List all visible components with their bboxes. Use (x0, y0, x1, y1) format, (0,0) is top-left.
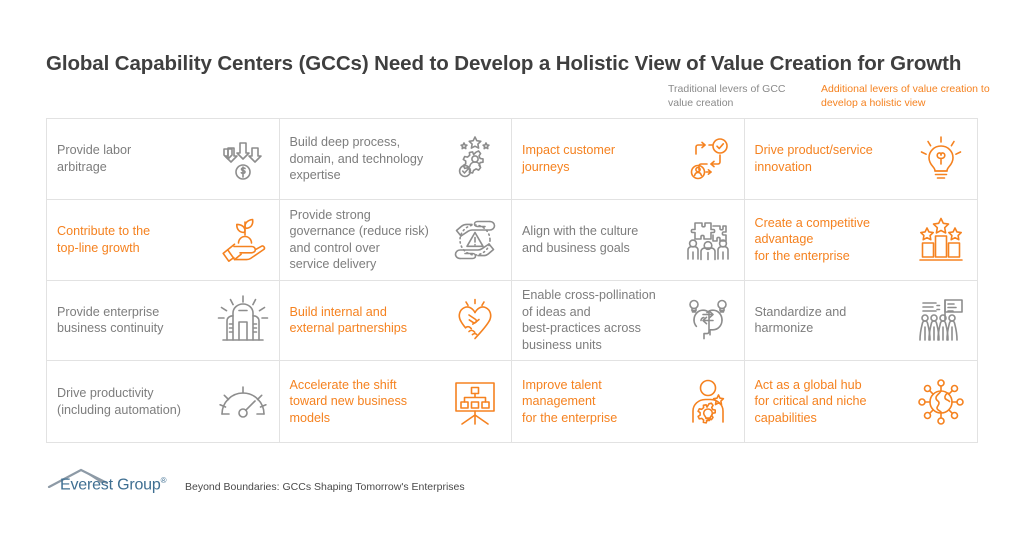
footer: Everest Group® Beyond Boundaries: GCCs S… (47, 468, 465, 496)
heads-idea-exchange-icon (680, 292, 736, 348)
legend: Traditional levers of GCC value creation… (668, 83, 1001, 110)
matrix-cell: Improve talent management for the enterp… (512, 361, 745, 442)
matrix-cell: Provide enterprise business continuity (47, 281, 280, 362)
building-shine-icon (215, 292, 271, 348)
matrix-cell-label: Drive productivity (including automation… (57, 385, 215, 418)
matrix-cell: Drive product/service innovation (745, 119, 978, 200)
matrix-cell-label: Impact customer journeys (522, 142, 680, 175)
lightbulb-idea-icon (913, 131, 969, 187)
value-creation-matrix: Provide labor arbitrage Build deep proce… (46, 118, 978, 443)
people-puzzle-icon (680, 212, 736, 268)
matrix-cell: Standardize and harmonize (745, 281, 978, 362)
matrix-cell-label: Build internal and external partnerships (290, 304, 448, 337)
matrix-cell-label: Accelerate the shift toward new business… (290, 377, 448, 427)
matrix-cell: Act as a global hub for critical and nic… (745, 361, 978, 442)
matrix-cell-label: Enable cross-pollination of ideas and be… (522, 287, 680, 353)
logo-registered-mark: ® (161, 476, 167, 485)
matrix-cell: Provide labor arbitrage (47, 119, 280, 200)
team-presentation-icon (913, 292, 969, 348)
matrix-cell: Build internal and external partnerships (280, 281, 513, 362)
matrix-cell-label: Provide labor arbitrage (57, 142, 215, 175)
matrix-cell-label: Drive product/service innovation (755, 142, 914, 175)
matrix-cell: Drive productivity (including automation… (47, 361, 280, 442)
page-title: Global Capability Centers (GCCs) Need to… (46, 52, 961, 76)
logo-wordmark: Everest Group® (60, 476, 166, 494)
matrix-cell-label: Provide strong governance (reduce risk) … (290, 207, 448, 273)
matrix-cell: Impact customer journeys (512, 119, 745, 200)
matrix-cell-label: Provide enterprise business continuity (57, 304, 215, 337)
matrix-cell-label: Build deep process, domain, and technolo… (290, 134, 448, 184)
matrix-cell-label: Contribute to the top-line growth (57, 223, 215, 256)
speedometer-icon (215, 374, 271, 430)
matrix-cell: Contribute to the top-line growth (47, 200, 280, 281)
legend-traditional: Traditional levers of GCC value creation (668, 83, 808, 110)
matrix-cell: Align with the culture and business goal… (512, 200, 745, 281)
matrix-cell: Enable cross-pollination of ideas and be… (512, 281, 745, 362)
customer-journey-flow-icon (680, 131, 736, 187)
everest-group-logo: Everest Group® (47, 468, 143, 496)
hand-plant-growth-icon (215, 212, 271, 268)
bar-chart-stars-icon (913, 212, 969, 268)
matrix-cell-label: Align with the culture and business goal… (522, 223, 680, 256)
gear-person-stars-icon (447, 131, 503, 187)
matrix-cell: Build deep process, domain, and technolo… (280, 119, 513, 200)
matrix-cell-label: Standardize and harmonize (755, 304, 914, 337)
matrix-cell-label: Create a competitive advantage for the e… (755, 215, 914, 265)
down-arrows-dollar-icon (215, 131, 271, 187)
matrix-cell: Provide strong governance (reduce risk) … (280, 200, 513, 281)
global-network-icon (913, 374, 969, 430)
easel-hierarchy-icon (447, 374, 503, 430)
hands-warning-shield-icon (447, 212, 503, 268)
person-gear-bulb-icon (680, 374, 736, 430)
matrix-cell-label: Improve talent management for the enterp… (522, 377, 680, 427)
footer-tagline: Beyond Boundaries: GCCs Shaping Tomorrow… (185, 481, 465, 496)
matrix-cell: Accelerate the shift toward new business… (280, 361, 513, 442)
matrix-cell-label: Act as a global hub for critical and nic… (755, 377, 914, 427)
logo-name: Everest Group (60, 476, 161, 493)
matrix-cell: Create a competitive advantage for the e… (745, 200, 978, 281)
legend-additional: Additional levers of value creation to d… (821, 83, 1001, 110)
handshake-heart-icon (447, 292, 503, 348)
